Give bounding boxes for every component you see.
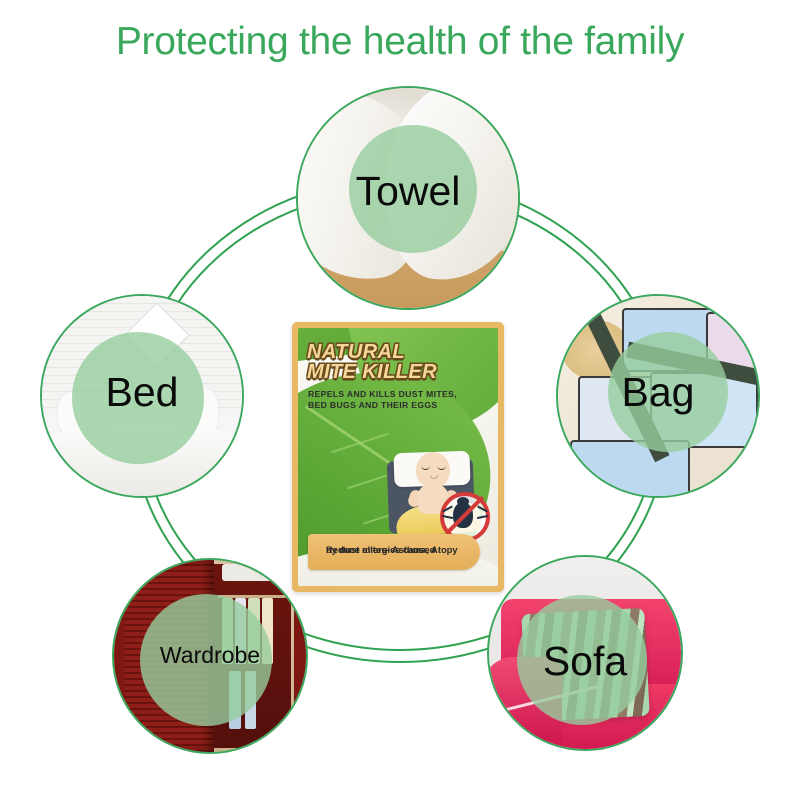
- package-title: NATURAL MITE KILLER: [307, 342, 487, 382]
- package-title-line1: NATURAL: [307, 341, 405, 363]
- category-label-towel: Towel: [298, 171, 518, 212]
- package-banner-text: Reduce allergies caused by dust mites- A…: [317, 539, 477, 552]
- product-package[interactable]: NATURAL MITE KILLER REPELS AND KILLS DUS…: [292, 322, 504, 592]
- category-label-bag: Bag: [558, 372, 758, 413]
- package-subtitle: REPELS AND KILLS DUST MITES, BED BUGS AN…: [308, 389, 484, 411]
- package-subtitle-line1: REPELS AND KILLS DUST MITES,: [308, 389, 484, 400]
- package-subtitle-line2: BED BUGS AND THEIR EGGS: [308, 400, 484, 411]
- package-artwork: NATURAL MITE KILLER REPELS AND KILLS DUS…: [298, 328, 498, 586]
- category-circle-wardrobe[interactable]: Wardrobe: [112, 558, 308, 754]
- category-label-bed: Bed: [42, 372, 242, 413]
- package-title-line2: MITE KILLER: [307, 362, 487, 382]
- package-banner-line2: by dust mites- Asthma, Atopy: [326, 544, 486, 557]
- infographic-canvas: Protecting the health of the family Towe…: [0, 0, 800, 800]
- category-label-wardrobe: Wardrobe: [114, 644, 306, 667]
- category-circle-bed[interactable]: Bed: [40, 294, 244, 498]
- category-label-sofa: Sofa: [489, 641, 681, 682]
- category-circle-towel[interactable]: Towel: [296, 86, 520, 310]
- category-circle-bag[interactable]: Bag: [556, 294, 760, 498]
- category-circle-sofa[interactable]: Sofa: [487, 555, 683, 751]
- package-banner: Reduce allergies caused by dust mites- A…: [308, 534, 480, 570]
